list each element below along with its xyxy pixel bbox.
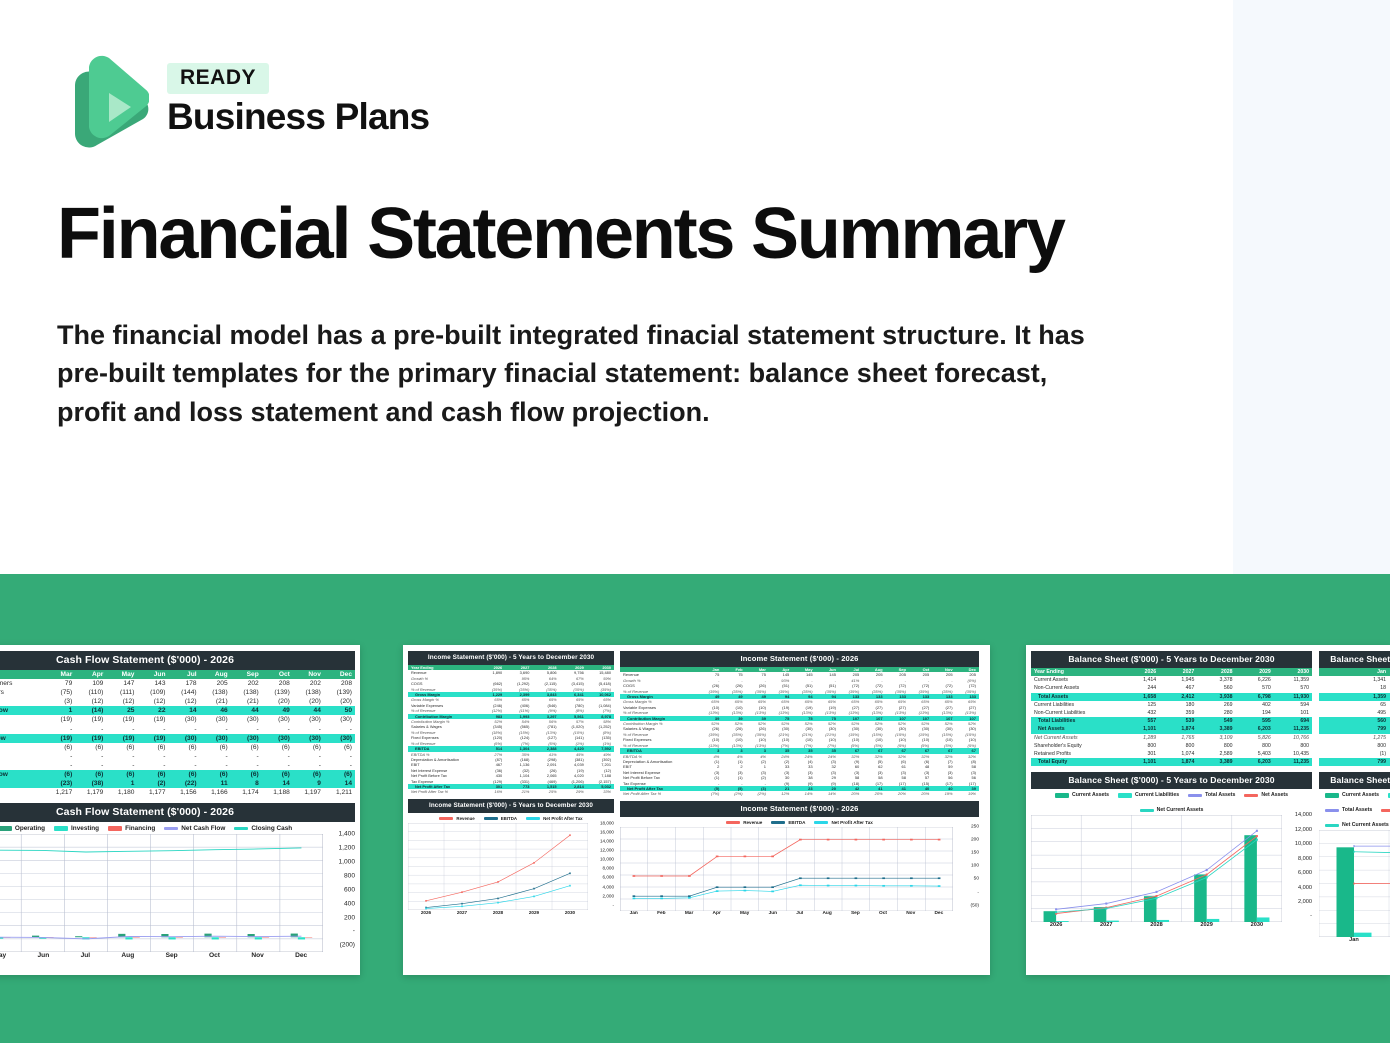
table-cell: 694 <box>1274 717 1312 725</box>
legend-item: EBITDA <box>771 820 805 825</box>
table-cell: 14% <box>816 791 839 796</box>
table-header-row: JanFeb <box>1319 668 1390 676</box>
table-cell: (30) <box>293 715 324 724</box>
legend-label: Closing Cash <box>251 825 292 832</box>
table-row[interactable]: Non-Current Assets244467560570570 <box>1031 684 1312 692</box>
table-row[interactable]: Net Current Assets1,2891,7653,1095,82610… <box>1031 734 1312 742</box>
table-row[interactable]: Shareholder's Equity800800800800800 <box>1031 742 1312 750</box>
table-row[interactable]: Net Profit After Tax %16%21%25%29%33% <box>408 789 614 794</box>
x-axis-tick: Jan <box>630 911 638 916</box>
cash-flow-table[interactable]: MarAprMayJunJulAugSepOctNovDecReceipts f… <box>0 670 355 797</box>
table-cell: (138) <box>231 688 262 697</box>
table-cell: 570 <box>1274 684 1312 692</box>
y-axis-tick: (200) <box>340 942 355 949</box>
row-label: Non-Current Assets <box>1031 684 1121 692</box>
table-cell: 14 <box>169 706 200 715</box>
table-cell: 1,341 <box>1319 676 1389 684</box>
table-cell: (19) <box>75 715 106 724</box>
y-axis-tick: - <box>977 890 979 895</box>
table-cell: 800 <box>1121 742 1159 750</box>
x-axis-tick: Oct <box>209 952 220 959</box>
table-row[interactable]: Current Liabilities125180269402594 <box>1031 701 1312 709</box>
legend-item: Net Assets <box>1244 792 1288 798</box>
x-axis-tick: Oct <box>879 911 887 916</box>
table-row[interactable]: Dividends Paid---------- <box>0 761 355 770</box>
legend-swatch <box>164 827 178 830</box>
table-cell: - <box>169 725 200 734</box>
income-2026-pane: Income Statement ($'000) - 2026 JanFebMa… <box>620 651 979 916</box>
table-cell: (6) <box>44 743 75 752</box>
row-label: Total Liabilities <box>1031 717 1121 725</box>
table-row[interactable]: Net Profit After Tax %(7%)(2%)(2%)12%14%… <box>620 791 979 796</box>
table-header-row: MarAprMayJunJulAugSepOctNovDec <box>0 670 355 679</box>
table-row[interactable]: Retained Profits3011,0742,5895,40310,435 <box>1031 750 1312 758</box>
cash-flow-chart-x-axis: AprMayJunJulAugSepOctNovDec <box>0 952 355 959</box>
balance-2026-chart-legend: Current AssetsCurrent LiabilitiesTotal A… <box>1319 789 1390 830</box>
table-cell: - <box>200 725 231 734</box>
table-cell: 560 <box>1319 717 1389 725</box>
y-axis-tick: 4,000 <box>603 884 615 889</box>
x-axis-tick: 2027 <box>457 910 467 915</box>
table-cell: 46 <box>200 706 231 715</box>
column-header-label <box>0 670 44 679</box>
table-row[interactable]: Receipts from Customers79109147143178205… <box>0 679 355 688</box>
table-cell: 22 <box>137 706 168 715</box>
table-row[interactable]: Current Liabilities6572 <box>1319 701 1390 709</box>
x-axis-tick: Sep <box>166 952 178 959</box>
table-cell: 1,414 <box>1121 676 1159 684</box>
income-5y-chart-legend: RevenueEBITDANet Profit After Tax <box>408 813 614 823</box>
table-cell: 14% <box>792 791 815 796</box>
table-cell: 800 <box>1319 742 1389 750</box>
table-cell: - <box>324 752 355 761</box>
table-row[interactable]: Total Assets1,3591,359 <box>1319 693 1390 701</box>
table-cell: - <box>75 761 106 770</box>
table-row[interactable]: Current Assets1,4141,9453,3786,22611,359 <box>1031 676 1312 684</box>
table-cell: (30) <box>231 715 262 724</box>
balance-5y-pane: Balance Sheet ($'000) - 5 Years to Decem… <box>1031 651 1312 943</box>
table-row[interactable]: Current Assets1,3411,323 <box>1319 676 1390 684</box>
legend-swatch <box>1055 793 1069 798</box>
table-cell: 8 <box>231 779 262 788</box>
table-cell: (6) <box>293 770 324 779</box>
x-axis-tick: Jul <box>796 911 803 916</box>
table-cell: 2,589 <box>1197 750 1235 758</box>
table-row[interactable]: Net Assets799798 <box>1319 725 1390 733</box>
table-cell: - <box>262 752 293 761</box>
legend-item: Revenue <box>439 816 474 821</box>
table-cell: (12) <box>169 697 200 706</box>
table-row[interactable]: Retained Profits(1)(2) <box>1319 750 1390 758</box>
table-cell: - <box>75 725 106 734</box>
table-row[interactable]: Total Assets1,6582,4123,9386,79811,930 <box>1031 693 1312 701</box>
y-axis-tick: 8,000 <box>1298 856 1312 862</box>
table-cell: 21% <box>505 789 532 794</box>
table-cell: - <box>293 752 324 761</box>
balance-2026-table[interactable]: JanFebCurrent Assets1,3411,323Non-Curren… <box>1319 668 1390 766</box>
table-row[interactable]: Other Investing---------- <box>0 725 355 734</box>
legend-item: Net Cash Flow <box>164 825 225 832</box>
legend-swatch <box>726 821 740 824</box>
legend-item: Net Profit After Tax <box>526 816 583 821</box>
cash-flow-chart-legend: OperatingInvestingFinancingNet Cash Flow… <box>0 822 355 834</box>
table-cell: (22) <box>169 779 200 788</box>
table-cell: 10,435 <box>1274 750 1312 758</box>
table-cell: 280 <box>1197 709 1235 717</box>
table-cell: 800 <box>1236 742 1274 750</box>
y-axis-tick: 6,000 <box>603 875 615 880</box>
table-cell: 9 <box>293 779 324 788</box>
table-cell: - <box>231 761 262 770</box>
table-cell: (111) <box>106 688 137 697</box>
table-cell: 1,874 <box>1159 725 1197 733</box>
table-cell: (30) <box>200 715 231 724</box>
table-row[interactable]: Net Assets1,1011,8743,3896,20311,235 <box>1031 725 1312 733</box>
table-cell: (30) <box>169 715 200 724</box>
table-cell: (2%) <box>746 791 769 796</box>
balance-sheet-screenshot[interactable]: Balance Sheet ($'000) - 5 Years to Decem… <box>1026 645 1390 975</box>
x-axis-tick: Dec <box>934 911 943 916</box>
table-cell: (30) <box>169 734 200 743</box>
table-cell: (3) <box>44 697 75 706</box>
table-cell: 14 <box>262 779 293 788</box>
x-axis-tick: Mar <box>685 911 694 916</box>
row-label: Current Assets <box>1031 676 1121 684</box>
table-row[interactable]: Total Liabilities560561 <box>1319 717 1390 725</box>
table-row[interactable]: Investing Cash Flow(19)(19)(19)(19)(30)(… <box>0 734 355 743</box>
table-cell: 539 <box>1159 717 1197 725</box>
y-axis-tick: 10,000 <box>1295 841 1312 847</box>
x-axis-tick: Jul <box>81 952 91 959</box>
table-cell: 180 <box>1159 701 1197 709</box>
y-axis-tick: 4,000 <box>1298 885 1312 891</box>
table-cell: - <box>293 725 324 734</box>
y-axis-tick: 12,000 <box>1295 827 1312 833</box>
legend-swatch <box>234 827 248 830</box>
income-5y-pane: Income Statement ($'000) - 5 Years to De… <box>408 651 614 916</box>
table-row[interactable]: Closing Cash1,2171,1791,1801,1771,1561,1… <box>0 788 355 797</box>
balance-2026-chart-plot <box>1319 830 1390 937</box>
table-cell: 495 <box>1319 709 1389 717</box>
legend-item: Revenue <box>726 820 762 825</box>
row-label: Retained Profits <box>1031 750 1121 758</box>
brand-logo[interactable]: READY Business Plans <box>57 55 429 155</box>
table-cell: (6) <box>231 770 262 779</box>
table-cell: (109) <box>137 688 168 697</box>
ready-badge: READY <box>167 63 269 94</box>
row-label: Non-Current Liabilities <box>1031 709 1121 717</box>
table-cell: 1,359 <box>1319 693 1389 701</box>
table-row[interactable]: Loan Repayments(6)(6)(6)(6)(6)(6)(6)(6)(… <box>0 743 355 752</box>
table-cell: (6) <box>200 743 231 752</box>
table-cell: 10,766 <box>1274 734 1312 742</box>
table-cell: (19) <box>44 715 75 724</box>
x-axis-tick: Aug <box>121 952 134 959</box>
table-row[interactable]: Non-Current Liabilities432359280194101 <box>1031 709 1312 717</box>
table-cell: 800 <box>1159 742 1197 750</box>
table-cell: 202 <box>231 679 262 688</box>
row-label: Payments to Suppliers <box>0 688 44 697</box>
legend-label: Operating <box>15 825 45 832</box>
table-cell: (19) <box>137 715 168 724</box>
x-axis-tick: Dec <box>295 952 307 959</box>
table-cell: 208 <box>324 679 355 688</box>
table-cell: 6,203 <box>1236 758 1274 766</box>
table-cell: (6) <box>137 743 168 752</box>
table-row[interactable]: Total Equity1,1011,8743,3896,20311,235 <box>1031 758 1312 766</box>
table-cell: 1,074 <box>1159 750 1197 758</box>
table-cell: (6) <box>324 743 355 752</box>
table-cell: 432 <box>1121 709 1159 717</box>
table-cell: (12) <box>106 697 137 706</box>
x-axis-tick: 2027 <box>1100 922 1112 928</box>
table-cell: 20% <box>839 791 862 796</box>
x-axis-tick: 2029 <box>529 910 539 915</box>
table-cell: (21) <box>200 697 231 706</box>
row-label: Net Profit After Tax % <box>408 789 478 794</box>
x-axis-tick: Jun <box>769 911 778 916</box>
table-cell: - <box>231 752 262 761</box>
table-cell: 20% <box>886 791 909 796</box>
y-axis-tick: 2,000 <box>1298 899 1312 905</box>
y-axis-tick: 100 <box>971 864 979 869</box>
table-row[interactable]: Total Liabilities557539549595694 <box>1031 717 1312 725</box>
income-2026-chart-title: Income Statement ($'000) - 2026 <box>620 801 979 817</box>
legend-item: Net Assets <box>1381 807 1390 813</box>
table-row[interactable]: Total Equity799798 <box>1319 758 1390 766</box>
table-cell: 11,235 <box>1274 758 1312 766</box>
table-cell: 560 <box>1197 684 1235 692</box>
table-cell: 1,765 <box>1159 734 1197 742</box>
table-cell: 109 <box>75 679 106 688</box>
table-row[interactable]: Shareholder's Equity800800 <box>1319 742 1390 750</box>
x-axis-tick: Apr <box>713 911 721 916</box>
table-cell: 467 <box>1159 684 1197 692</box>
table-cell: 1,101 <box>1121 758 1159 766</box>
row-label: Current Liabilities <box>1031 701 1121 709</box>
table-cell: (2%) <box>722 791 745 796</box>
table-cell: 549 <box>1197 717 1235 725</box>
chart-y-axis: 1,4001,2001,000800600400200-(200) <box>323 831 355 949</box>
y-axis-tick: - <box>612 902 614 907</box>
balance-5y-table[interactable]: Year Ending20262027202820292030Current A… <box>1031 668 1312 766</box>
y-axis-tick: 1,000 <box>338 859 355 866</box>
table-cell: (6) <box>324 770 355 779</box>
legend-swatch <box>108 826 122 831</box>
legend-swatch <box>54 826 68 831</box>
table-cell: 1,275 <box>1319 734 1389 742</box>
brand-logo-text: READY Business Plans <box>167 55 429 137</box>
table-cell: - <box>293 761 324 770</box>
table-cell: 1,166 <box>200 788 231 797</box>
income-statement-screenshot[interactable]: Income Statement ($'000) - 5 Years to De… <box>403 645 990 975</box>
table-cell: 29% <box>560 789 587 794</box>
table-cell: (1) <box>1319 750 1389 758</box>
table-row[interactable]: Non-Current Liabilities495489 <box>1319 709 1390 717</box>
table-row[interactable]: Interest & Tax Paid(3)(12)(12)(12)(12)(2… <box>0 697 355 706</box>
table-cell: (75) <box>44 688 75 697</box>
income-5y-chart-title: Income Statement ($'000) - 5 Years to De… <box>408 799 614 813</box>
table-cell: - <box>106 761 137 770</box>
table-cell: - <box>262 761 293 770</box>
table-cell: 202 <box>293 679 324 688</box>
table-cell: (138) <box>200 688 231 697</box>
table-cell: 6,798 <box>1236 693 1274 701</box>
legend-item: Total Assets <box>1325 807 1372 813</box>
table-row[interactable]: Equity Raised---------- <box>0 752 355 761</box>
y-axis-tick: 6,000 <box>1298 870 1312 876</box>
x-axis-tick: 2028 <box>1150 922 1162 928</box>
column-header-label: Year Ending <box>1031 668 1121 676</box>
income-2026-table-title: Income Statement ($'000) - 2026 <box>620 651 979 667</box>
table-cell: 3,389 <box>1197 725 1235 733</box>
table-cell: 6,226 <box>1236 676 1274 684</box>
table-cell: (138) <box>293 688 324 697</box>
legend-swatch <box>1140 809 1154 812</box>
x-axis-tick: Nov <box>906 911 915 916</box>
income-2026-table[interactable]: JanFebMarAprMayJunJulAugSepOctNovDecReve… <box>620 667 979 797</box>
table-cell: (6) <box>169 743 200 752</box>
legend-swatch <box>1325 824 1339 827</box>
play-triangle-logo-icon <box>57 55 149 155</box>
legend-label: Total Assets <box>1205 792 1235 798</box>
income-5y-chart-plot: 18,00016,00014,00012,00010,0008,0006,000… <box>408 823 614 910</box>
y-axis-tick: 50 <box>974 877 979 882</box>
table-cell: 1,101 <box>1121 725 1159 733</box>
table-cell: (139) <box>324 688 355 697</box>
legend-item: Current Assets <box>1055 792 1109 798</box>
table-row[interactable]: Capital Expenditure(19)(19)(19)(19)(30)(… <box>0 715 355 724</box>
x-axis-tick: May <box>740 911 749 916</box>
table-cell: - <box>106 725 137 734</box>
legend-label: Net Current Assets <box>1157 807 1204 813</box>
row-label: Operating Cash Flow <box>0 706 44 715</box>
column-header: Jan <box>1319 668 1389 676</box>
table-cell: 244 <box>1121 684 1159 692</box>
x-axis-tick: Nov <box>251 952 263 959</box>
cash-flow-chart-plot: 1,4001,2001,000800600400200-(200) <box>0 834 355 952</box>
table-row[interactable]: Payments to Suppliers(75)(110)(111)(109)… <box>0 688 355 697</box>
table-cell: (6) <box>262 770 293 779</box>
table-cell: - <box>44 761 75 770</box>
table-cell: 301 <box>1121 750 1159 758</box>
table-cell: 33% <box>587 789 614 794</box>
table-cell: 6,203 <box>1236 725 1274 733</box>
legend-item: Operating <box>0 825 45 832</box>
legend-item: Closing Cash <box>234 825 292 832</box>
income-2026-chart-x-axis: JanFebMarAprMayJunJulAugSepOctNovDec <box>620 911 979 916</box>
table-cell: 178 <box>169 679 200 688</box>
table-row[interactable]: Net Current Assets1,2751,251 <box>1319 734 1390 742</box>
column-header: Aug <box>200 670 231 679</box>
legend-swatch <box>484 817 498 820</box>
table-cell: (19) <box>75 734 106 743</box>
income-5y-table[interactable]: Year Ending20262027202820292030Revenue1,… <box>408 665 614 795</box>
x-axis-tick: Jan <box>1349 937 1359 943</box>
table-cell: (23) <box>44 779 75 788</box>
legend-item: Investing <box>54 825 99 832</box>
table-cell: (6) <box>106 743 137 752</box>
table-cell: 205 <box>200 679 231 688</box>
chart-y-axis: 25020015010050-(50) <box>953 824 979 908</box>
table-cell: (19) <box>106 715 137 724</box>
table-cell: - <box>169 761 200 770</box>
column-header: Jul <box>169 670 200 679</box>
table-cell: 1,179 <box>75 788 106 797</box>
table-cell: (6) <box>169 770 200 779</box>
table-cell: 1,945 <box>1159 676 1197 684</box>
page-title: Financial Statements Summary <box>57 198 1147 271</box>
y-axis-tick: - <box>1310 914 1312 920</box>
legend-swatch <box>1188 794 1202 797</box>
x-axis-tick: 2030 <box>565 910 575 915</box>
table-cell: 5,403 <box>1236 750 1274 758</box>
legend-label: Revenue <box>456 816 474 821</box>
y-axis-tick: 16,000 <box>600 830 614 835</box>
balance-2026-pane: Balance Sheet ($'000) - 2026 JanFebCurre… <box>1319 651 1390 943</box>
table-cell: 3,109 <box>1197 734 1235 742</box>
legend-item: Current Assets <box>1325 792 1379 798</box>
table-cell: - <box>75 752 106 761</box>
chart-y-axis: 18,00016,00014,00012,00010,0008,0006,000… <box>588 820 614 907</box>
table-row[interactable]: Operating Cash Flow1(14)2522144644494450 <box>0 706 355 715</box>
y-axis-tick: 10,000 <box>600 857 614 862</box>
balance-5y-chart-x-axis: 20262027202820292030 <box>1031 922 1312 928</box>
column-header: May <box>106 670 137 679</box>
legend-label: Net Assets <box>1261 792 1288 798</box>
legend-label: Current Liabilities <box>1135 792 1179 798</box>
table-cell: (6) <box>44 770 75 779</box>
balance-2026-chart-x-axis: JanFeb <box>1319 937 1390 943</box>
table-cell: (30) <box>200 734 231 743</box>
table-cell: (21) <box>231 697 262 706</box>
legend-swatch <box>814 821 828 824</box>
table-cell: 1,658 <box>1121 693 1159 701</box>
legend-swatch <box>526 817 540 820</box>
cash-flow-statement-screenshot[interactable]: Cash Flow Statement ($'000) - 2026 MarAp… <box>0 645 360 975</box>
table-cell: (30) <box>231 734 262 743</box>
y-axis-tick: 2,000 <box>603 893 615 898</box>
table-cell: 5,826 <box>1236 734 1274 742</box>
table-cell: - <box>137 752 168 761</box>
x-axis-tick: Jun <box>38 952 50 959</box>
x-axis-tick: Feb <box>657 911 666 916</box>
table-cell: 101 <box>1274 709 1312 717</box>
table-cell: 799 <box>1319 725 1389 733</box>
table-row[interactable]: Non-Current Assets1836 <box>1319 684 1390 692</box>
column-header: 2028 <box>1197 668 1235 676</box>
column-header: Sep <box>231 670 262 679</box>
table-cell: - <box>324 725 355 734</box>
table-row[interactable]: Financing Cash Flow(6)(6)(6)(6)(6)(6)(6)… <box>0 770 355 779</box>
table-cell: (6) <box>231 743 262 752</box>
table-cell: 3,378 <box>1197 676 1235 684</box>
legend-label: Revenue <box>743 820 762 825</box>
income-5y-table-title: Income Statement ($'000) - 5 Years to De… <box>408 651 614 665</box>
table-cell: 18 <box>1319 684 1389 692</box>
column-header: 2027 <box>1159 668 1197 676</box>
table-cell: 147 <box>106 679 137 688</box>
legend-label: Current Assets <box>1342 792 1379 798</box>
table-cell: 800 <box>1197 742 1235 750</box>
table-cell: (30) <box>324 715 355 724</box>
balance-2026-table-title: Balance Sheet ($'000) - 2026 <box>1319 651 1390 668</box>
legend-label: Net Profit After Tax <box>543 816 583 821</box>
column-header: 2026 <box>1121 668 1159 676</box>
table-cell: - <box>44 752 75 761</box>
table-row[interactable]: Net Cash Flow(23)(38)1(2)(22)11814914 <box>0 779 355 788</box>
row-label: Financing Cash Flow <box>0 770 44 779</box>
